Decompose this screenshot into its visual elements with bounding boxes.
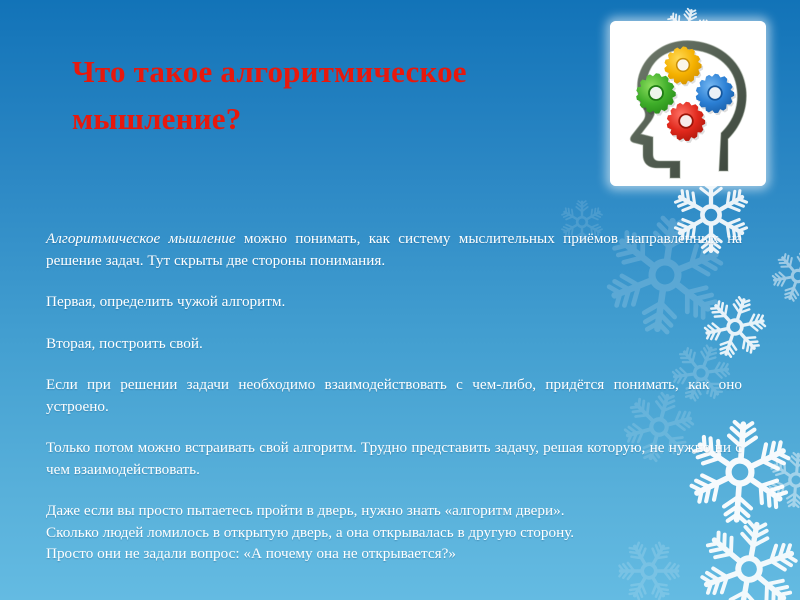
- head-with-gears-illustration: [610, 21, 766, 186]
- snowflake-far-right-edge: [765, 243, 800, 310]
- slide-title-line-1: Что такое алгоритмическое: [72, 48, 592, 95]
- paragraph-4: Если при решении задачи необходимо взаим…: [46, 374, 742, 417]
- paragraph-3: Вторая, построить свой.: [46, 333, 742, 355]
- paragraph-6-line-2: Сколько людей ломилось в открытую дверь,…: [46, 522, 742, 544]
- head-with-gears-image: [610, 21, 766, 186]
- paragraph-6: Даже если вы просто пытаетесь пройти в д…: [46, 500, 742, 565]
- snowflake-far-right-low: [766, 450, 800, 511]
- paragraph-5: Только потом можно встраивать свой алгор…: [46, 437, 742, 480]
- paragraph-6-line-3: Просто они не задали вопрос: «А почему о…: [46, 543, 742, 565]
- paragraph-2: Первая, определить чужой алгоритм.: [46, 291, 742, 313]
- paragraph-6-line-1: Даже если вы просто пытаетесь пройти в д…: [46, 500, 742, 522]
- lead-term-algorithmic-thinking: Алгоритмическое мышление: [46, 230, 236, 247]
- slide-body-text: Алгоритмическое мышление можно понимать,…: [46, 228, 742, 565]
- paragraph-1: Алгоритмическое мышление можно понимать,…: [46, 228, 742, 271]
- slide-title-line-2: мышление?: [72, 95, 592, 142]
- slide-title: Что такое алгоритмическое мышление?: [72, 48, 592, 142]
- presentation-slide: Что такое алгоритмическое мышление?: [0, 0, 800, 600]
